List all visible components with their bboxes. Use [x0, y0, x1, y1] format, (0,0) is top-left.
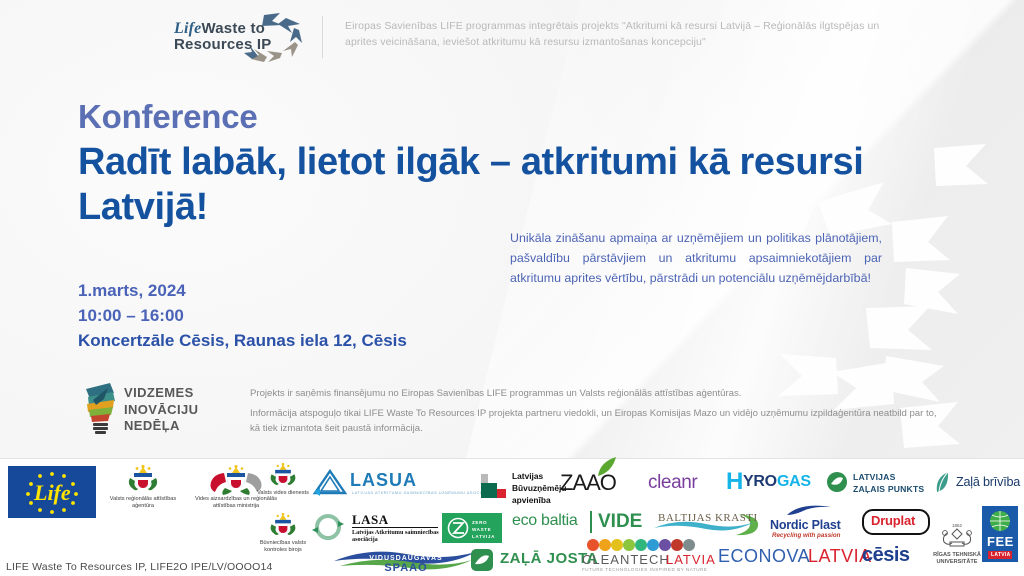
cleantech-latvia-wordmark: LATVIA: [666, 552, 716, 567]
lzp-line2: ZAĻAIS PUNKTS: [853, 484, 924, 496]
bvkb-logo: Būvniecības valsts kontroles birojs: [252, 512, 314, 554]
spaao-wave-icon: VIDUSDAUGAVAS SPAAO: [330, 545, 480, 573]
nordic-plast-wordmark: Nordic Plast: [770, 518, 841, 532]
vraa-label: Valsts reģionālās attīstības aģentūra: [100, 496, 186, 510]
event-details: 1.marts, 2024 10:00 – 16:00 Koncertzāle …: [78, 279, 407, 353]
header-divider: [322, 16, 323, 58]
disclaimer-paragraph-1: Projekts ir saņēmis finansējumu no Eirop…: [250, 387, 940, 401]
event-time: 10:00 – 16:00: [78, 304, 407, 329]
event-kicker: Konference: [78, 98, 258, 136]
recycle-loop-icon: [310, 514, 346, 540]
fee-latvia-label: LATVIA: [991, 552, 1010, 558]
poster-header: LifeWaste to Resources IP Eiropas Savien…: [0, 0, 1024, 74]
rtu-line1: RĪGAS TEHNISKĀ: [926, 552, 988, 559]
logo-life-word: Life: [174, 20, 201, 37]
baltijas-krasti-wordmark: BALTIJAS KRASTI: [658, 512, 758, 524]
conference-poster: LifeWaste to Resources IP Eiropas Savien…: [0, 0, 1024, 576]
vidusdaugavas-spaao-logo: VIDUSDAUGAVAS SPAAO: [330, 545, 480, 576]
eu-life-logo: Life: [8, 466, 96, 518]
varam-label: Vides aizsardzības un reģionālās attīstī…: [190, 496, 282, 510]
zaao-wordmark: ZAAO: [560, 470, 616, 496]
vide-wordmark: VIDE: [598, 511, 642, 533]
lba-line3: apvienība: [512, 494, 566, 506]
lba-wordmark: Latvijas Būvuzņēmēju apvienība: [512, 470, 566, 507]
lasua-wordmark: LASUA: [350, 470, 417, 491]
footer-caption: LIFE Waste To Resources IP, LIFE2O IPE/L…: [6, 561, 273, 573]
cesis-wordmark: cēsis: [862, 544, 910, 567]
vidzemes-wordmark: VIDZEMES INOVĀCIJU NEDĒĻA: [124, 385, 198, 435]
fee-latvia-logo: FEE LATVIA: [982, 506, 1018, 562]
disclaimer-paragraph-2: Informācija atspoguļo tikai LIFE Waste T…: [250, 407, 940, 436]
cleanr-wordmark: cleanr: [648, 472, 697, 494]
zero-waste-wordmark: ZERO WASTE LATVIJA: [472, 520, 502, 541]
lasua-triangle-icon: [312, 468, 348, 496]
lba-line1: Latvijas: [512, 470, 566, 482]
logo-resources-ip-word: Resources IP: [174, 37, 294, 52]
vidzemes-line1: VIDZEMES: [124, 385, 198, 402]
vidzemes-inovaciju-nedela-logo: VIDZEMES INOVĀCIJU NEDĒĻA: [80, 379, 220, 441]
fee-wordmark: FEE: [987, 534, 1014, 549]
vraa-logo: Valsts reģionālās attīstības aģentūra: [100, 464, 186, 510]
hyrogas-gas: GAS: [777, 473, 811, 491]
lasa-rule: [352, 527, 438, 528]
latvia-coat-of-arms-icon: [126, 464, 160, 496]
event-venue: Koncertzāle Cēsis, Raunas iela 12, Cēsis: [78, 329, 407, 354]
life-waste-to-resources-logo: LifeWaste to Resources IP: [168, 12, 308, 64]
lasa-subtitle: Latvijas Atkritumu saimniecības asociāci…: [352, 529, 444, 544]
rtu-line2: UNIVERSITĀTE: [926, 559, 988, 566]
vidzemes-line3: NEDĒĻA: [124, 418, 198, 435]
latvia-coat-of-arms-icon: [268, 462, 298, 490]
decorative-arrow-icon: [860, 300, 940, 360]
svg-text:VIDUSDAUGAVAS: VIDUSDAUGAVAS: [369, 555, 442, 562]
leaf-icon: [934, 471, 952, 495]
bvkb-label: Būvniecības valsts kontroles birojs: [252, 540, 314, 554]
zero-waste-latvija-logo: ZERO WASTE LATVIJA: [442, 513, 502, 543]
eu-life-wordmark: Life: [34, 480, 71, 506]
econova-wordmark: ECONOVA: [718, 546, 810, 567]
svg-text:1862: 1862: [952, 523, 963, 528]
svg-text:SPAAO: SPAAO: [384, 562, 427, 573]
lzp-wordmark: LATVIJAS ZAĻAIS PUNKTS: [853, 472, 924, 495]
cleantech-wordmark: CLEANTECH: [582, 552, 670, 567]
fee-globe-icon: [988, 509, 1012, 533]
project-description: Eiropas Savienības LIFE programmas integ…: [345, 18, 905, 51]
latvia-coat-of-arms-icon: [268, 512, 298, 540]
vidzemes-line2: INOVĀCIJU: [124, 402, 198, 419]
zala-josta-mark-icon: [470, 548, 494, 572]
hyrogas-h: H: [726, 468, 743, 496]
cleantech-hex-row-icon: [586, 538, 702, 552]
green-dot-recycle-icon: [826, 471, 848, 493]
lba-line2: Būvuzņēmēju: [512, 482, 566, 494]
hyrogas-yro: YRO: [743, 473, 777, 491]
nordic-plast-swoosh-icon: [784, 503, 834, 519]
druplat-wordmark: Druplat: [871, 513, 915, 528]
vvd-label: Valsts vides dienests: [252, 490, 314, 497]
funding-disclaimer: Projekts ir saņēmis finansējumu no Eirop…: [250, 387, 940, 442]
fee-latvia-band: LATVIA: [988, 551, 1012, 559]
lasua-subtitle: LATVIJAS ATKRITUMU SAIMNIECĪBAS UZŅĒMUMU…: [352, 490, 495, 495]
rtu-logo: 1862 RĪGAS TEHNISKĀ UNIVERSITĀTE: [926, 520, 988, 566]
eco-baltia-divider: [590, 511, 592, 533]
page-title: Radīt labāk, lietot ilgāk – atkritumi kā…: [78, 140, 908, 230]
nordic-plast-tagline: Recycling with passion: [772, 532, 840, 539]
logo-wordmark: LifeWaste to Resources IP: [174, 21, 294, 53]
decorative-arrow-icon: [930, 140, 996, 194]
event-lead-paragraph: Unikāla zināšanu apmaiņa ar uzņēmējiem u…: [510, 228, 882, 288]
lzp-line1: LATVIJAS: [853, 472, 924, 484]
logo-waste-to-word: Waste to: [201, 20, 265, 37]
lightbulb-ribbon-icon: [80, 379, 120, 439]
cleantech-tagline: FUTURE TECHNOLOGIES INSPIRED BY NATURE: [582, 567, 707, 572]
lba-bars-icon: [480, 470, 508, 500]
zero-waste-z-icon: [447, 517, 469, 539]
zala-briviba-wordmark: Zaļā brīvība: [956, 475, 1020, 489]
rtu-label: RĪGAS TEHNISKĀ UNIVERSITĀTE: [926, 552, 988, 566]
druplat-logo: Druplat: [862, 509, 930, 535]
vvd-logo: Valsts vides dienests: [252, 462, 314, 497]
event-date: 1.marts, 2024: [78, 279, 407, 304]
lasa-wordmark: LASA: [352, 512, 389, 528]
eco-baltia-wordmark: eco baltia: [512, 512, 578, 530]
rtu-crest-icon: 1862: [934, 520, 980, 552]
